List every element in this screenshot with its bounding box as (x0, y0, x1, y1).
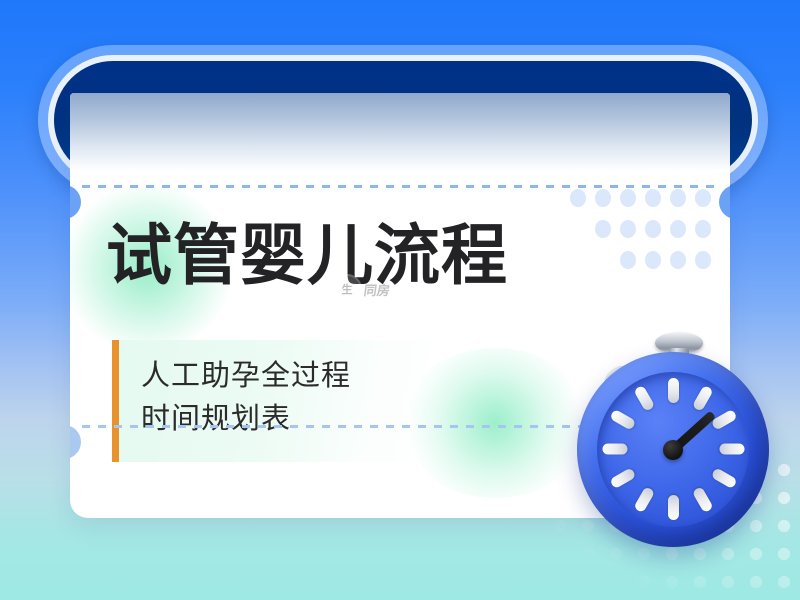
stopwatch-body (577, 352, 769, 547)
poster-canvas: 试管婴儿流程 生 同房 人工助孕全过程 时间规划表 (0, 0, 800, 600)
subtitle-accent-bar (112, 340, 119, 462)
stopwatch-face (597, 372, 749, 527)
stopwatch-tick (668, 495, 679, 520)
stopwatch-tick (691, 385, 713, 412)
stopwatch-tick (609, 409, 636, 431)
stopwatch-tick (602, 444, 627, 455)
stopwatch-tick (691, 486, 713, 513)
stopwatch-tick (609, 467, 636, 489)
stopwatch-center-pin (663, 440, 683, 460)
perforation-top (70, 185, 730, 187)
subtitle-line-2: 时间规划表 (141, 397, 351, 440)
stopwatch-tick (710, 409, 737, 431)
stopwatch-tick (633, 486, 655, 513)
stopwatch-tick (710, 467, 737, 489)
perforation-bottom-notch-left (70, 425, 81, 459)
perforation-top-line (82, 185, 718, 188)
subtitle-block: 人工助孕全过程 时间规划表 (112, 340, 442, 462)
perforation-top-notch-right (719, 185, 730, 219)
subtitle-line-1: 人工助孕全过程 (141, 354, 351, 397)
card-top-gradient (70, 93, 730, 171)
stopwatch-tick (719, 444, 744, 455)
stopwatch-icon (565, 332, 775, 572)
perforation-top-notch-left (70, 185, 81, 219)
stopwatch-tick (633, 385, 655, 412)
stopwatch-tick (668, 378, 679, 403)
subtitle-text: 人工助孕全过程 时间规划表 (119, 340, 351, 462)
decorative-dot-cluster (570, 189, 712, 281)
page-title: 试管婴儿流程 (106, 223, 508, 289)
